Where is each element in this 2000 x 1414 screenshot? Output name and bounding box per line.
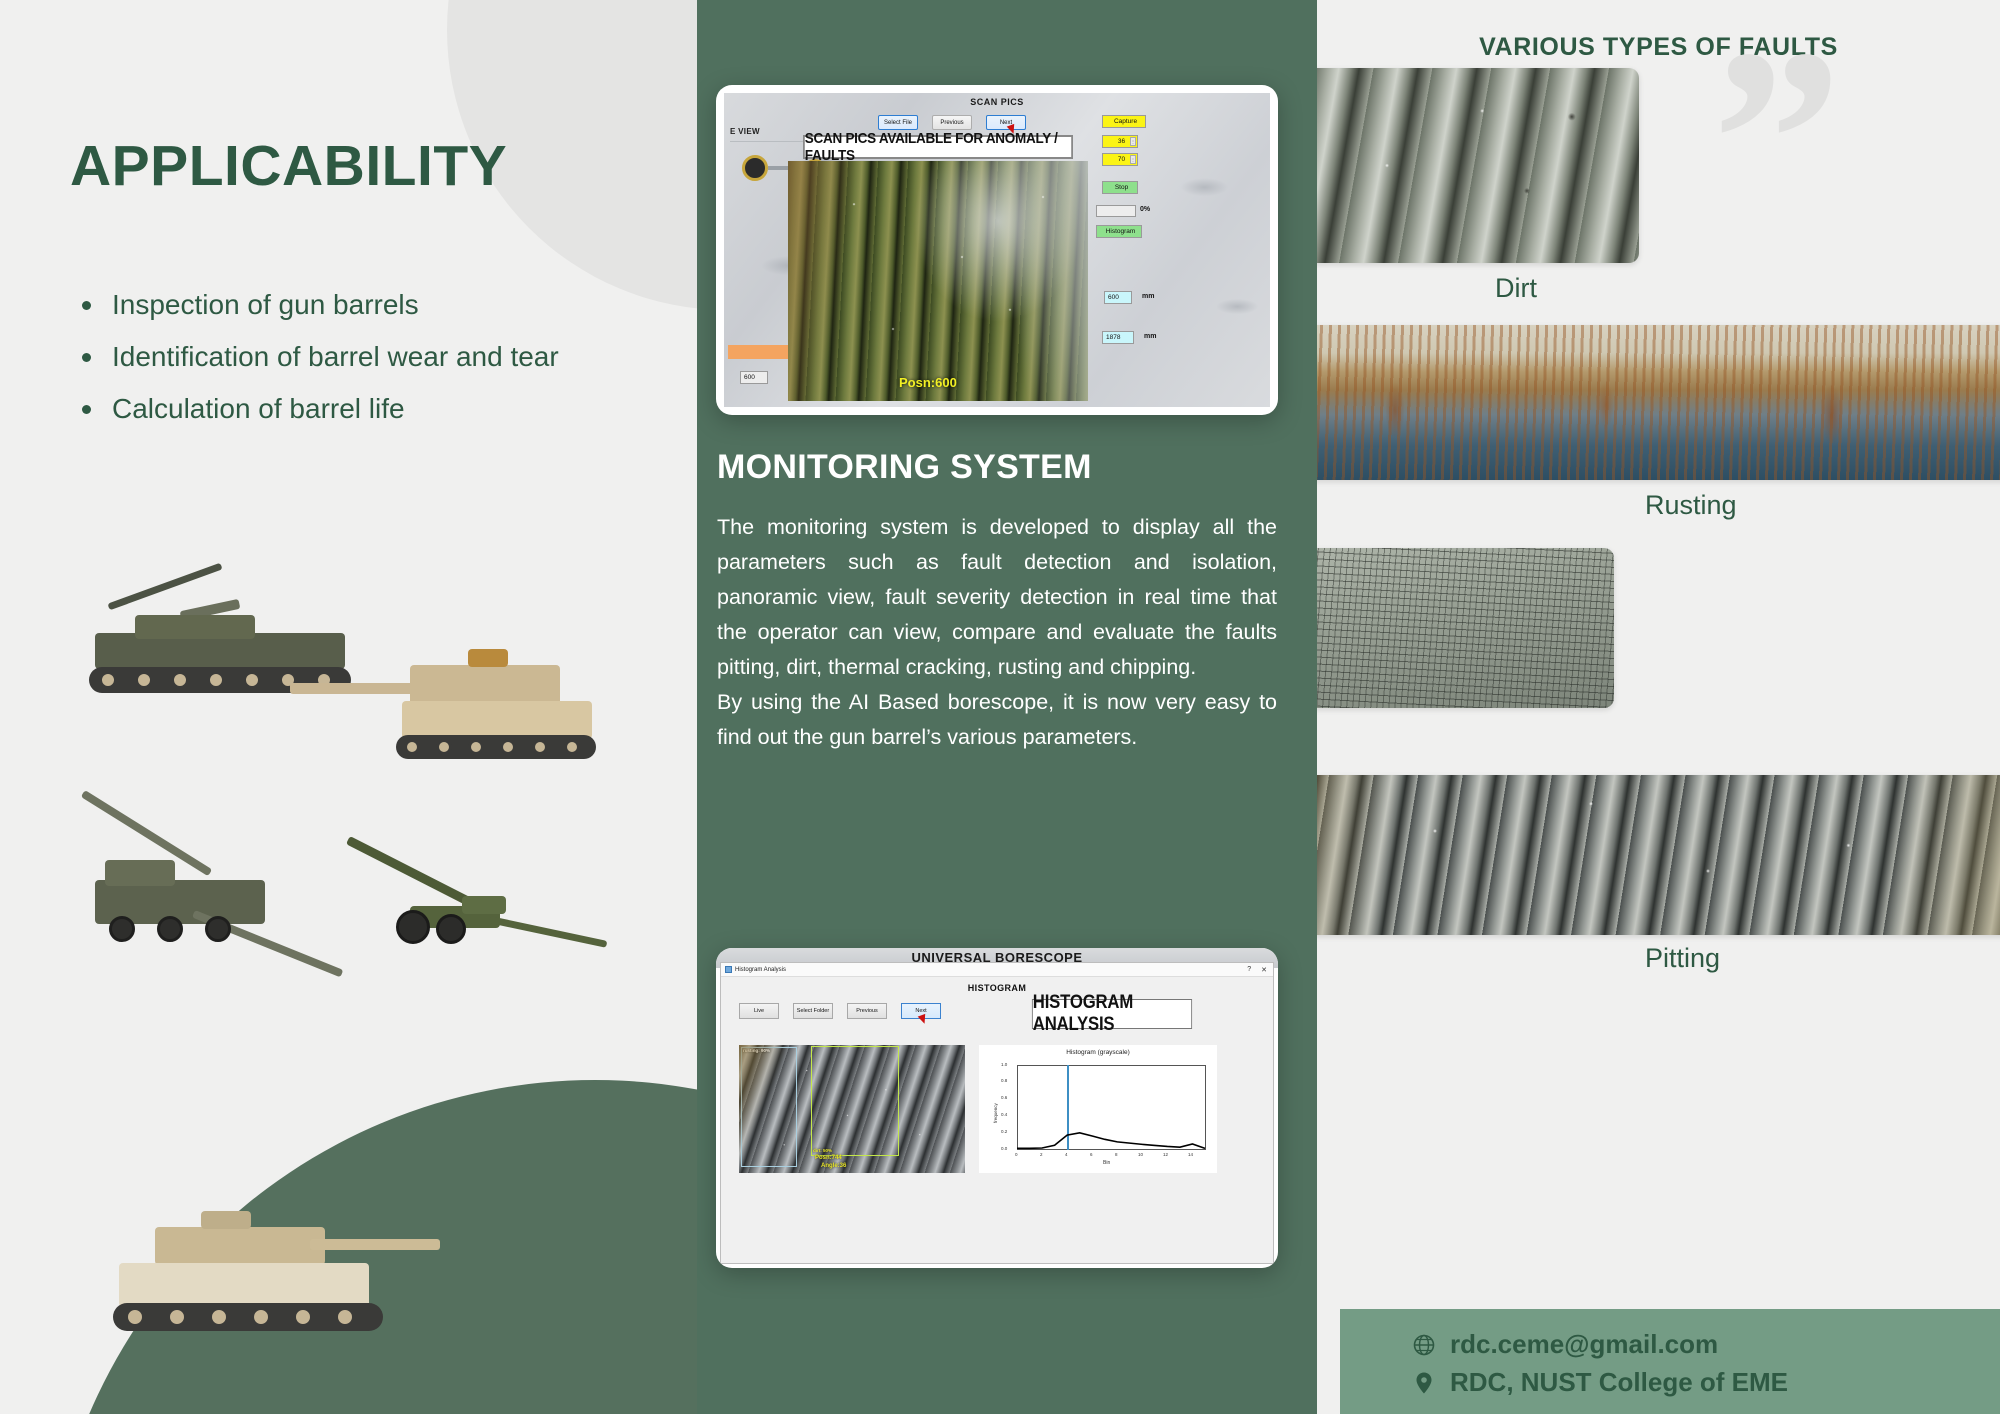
fault-label-dirt: Dirt xyxy=(1495,273,1537,304)
chart-title: Histogram (grayscale) xyxy=(979,1049,1217,1056)
left-position-field[interactable]: 600 xyxy=(740,371,768,384)
chart-xtick-4: 8 xyxy=(1115,1152,1118,1157)
chart-ytick-2: 0.4 xyxy=(1001,1112,1007,1117)
select-folder-button[interactable]: Select Folder xyxy=(793,1003,833,1019)
applicability-list: Inspection of gun barrels Identification… xyxy=(72,280,592,436)
center-panel: SCAN PICS E VIEW 600 An Select File Prev… xyxy=(697,0,1317,1414)
histogram-button[interactable]: Histogram xyxy=(1096,225,1142,238)
list-item: Calculation of barrel life xyxy=(72,384,592,434)
next-button[interactable]: Next xyxy=(986,115,1026,130)
detection-label-angle: Angle:36 xyxy=(821,1163,846,1169)
detection-box-rusting xyxy=(741,1047,797,1167)
progress-percent-label: 0% xyxy=(1140,206,1150,213)
stop-button[interactable]: Stop xyxy=(1102,181,1138,194)
fault-card-pitting xyxy=(1317,775,2000,935)
fault-image-dirt xyxy=(1317,68,1639,263)
app-icon xyxy=(725,966,732,973)
speed-value: 70 xyxy=(1118,156,1125,163)
fault-card-dirt xyxy=(1317,68,1639,263)
probe-wheel-icon xyxy=(742,155,768,181)
fault-card-rusting xyxy=(1317,325,2000,480)
chart-frame-top xyxy=(1017,1065,1205,1066)
fault-image-rusting xyxy=(1317,325,2000,480)
contact-email-text: rdc.ceme@gmail.com xyxy=(1450,1329,1718,1360)
help-icon[interactable]: ? xyxy=(1247,966,1251,974)
vehicle-image-self-propelled-gun-2 xyxy=(290,625,610,775)
quote-mark-icon: ” xyxy=(1712,50,1842,230)
chart-xtick-7: 14 xyxy=(1188,1152,1193,1157)
chart-ylabel: frequency xyxy=(993,1103,998,1123)
chart-ytick-1: 0.2 xyxy=(1001,1129,1007,1134)
detection-label-rusting: rusting: 90% xyxy=(743,1048,770,1053)
histogram-window-title: Histogram Analysis xyxy=(735,967,786,973)
detection-label-dirt: dirt: 50% xyxy=(813,1148,832,1153)
fault-image-thermal-cracking xyxy=(1317,548,1614,708)
list-item: Identification of barrel wear and tear xyxy=(72,332,592,382)
select-file-button[interactable]: Select File xyxy=(878,115,918,130)
chart-xtick-6: 12 xyxy=(1163,1152,1168,1157)
chart-ytick-4: 0.8 xyxy=(1001,1078,1007,1083)
paragraph-1: The monitoring system is developed to di… xyxy=(717,510,1277,685)
right-panel: VARIOUS TYPES OF FAULTS ” Dirt Rusting T… xyxy=(1317,0,2000,1414)
close-icon[interactable]: ✕ xyxy=(1261,966,1267,974)
divider xyxy=(730,141,808,142)
contact-address-text: RDC, NUST College of EME xyxy=(1450,1367,1788,1398)
vehicle-image-main-battle-tank xyxy=(95,1185,435,1345)
chart-ytick-5: 1.0 xyxy=(1001,1062,1007,1067)
speed-input[interactable]: 70 ⋮ xyxy=(1102,153,1138,166)
position-input[interactable]: 600 xyxy=(1104,291,1132,304)
histogram-chart: Histogram (grayscale) 0.0 0.2 0.4 0.6 0.… xyxy=(979,1045,1217,1173)
contact-address-row[interactable]: RDC, NUST College of EME xyxy=(1412,1367,1788,1398)
contact-bar: rdc.ceme@gmail.com RDC, NUST College of … xyxy=(1340,1309,2000,1414)
left-panel: APPLICABILITY Inspection of gun barrels … xyxy=(0,0,697,1414)
chart-axis-y xyxy=(1017,1065,1018,1150)
side-view-label: E VIEW xyxy=(730,127,760,136)
chart-xtick-1: 2 xyxy=(1040,1152,1043,1157)
scan-pics-window-title: SCAN PICS xyxy=(724,97,1270,107)
speed-stepper[interactable]: ⋮ xyxy=(1130,155,1136,164)
chart-frame-right xyxy=(1205,1065,1206,1150)
paragraph-2: By using the AI Based borescope, it is n… xyxy=(717,685,1277,755)
live-button[interactable]: Live xyxy=(739,1003,779,1019)
fault-image-pitting xyxy=(1317,775,2000,935)
position-unit-label: mm xyxy=(1142,293,1154,300)
page-title: APPLICABILITY xyxy=(70,133,507,199)
length-input[interactable]: 1878 xyxy=(1102,331,1134,344)
capture-button[interactable]: Capture xyxy=(1102,115,1146,128)
faults-section-title: VARIOUS TYPES OF FAULTS xyxy=(1317,33,2000,62)
progress-bar xyxy=(1096,205,1136,217)
chart-xtick-5: 10 xyxy=(1138,1152,1143,1157)
monitoring-system-body: The monitoring system is developed to di… xyxy=(717,510,1277,755)
contact-email-row[interactable]: rdc.ceme@gmail.com xyxy=(1412,1329,1718,1360)
angle-input[interactable]: 36 ⋮ xyxy=(1102,135,1138,148)
chart-marker-line xyxy=(1067,1065,1069,1150)
chart-xtick-2: 4 xyxy=(1065,1152,1068,1157)
chart-ytick-3: 0.6 xyxy=(1001,1095,1007,1100)
monitoring-system-heading: MONITORING SYSTEM xyxy=(717,448,1092,487)
barrel-scan-photo xyxy=(788,161,1088,401)
length-unit-label: mm xyxy=(1144,333,1156,340)
hist-previous-button[interactable]: Previous xyxy=(847,1003,887,1019)
chart-xtick-3: 6 xyxy=(1090,1152,1093,1157)
histogram-analysis-window: Histogram Analysis ? ✕ HISTOGRAM Live Se… xyxy=(720,962,1274,1264)
globe-icon xyxy=(1412,1332,1436,1358)
chart-xtick-0: 0 xyxy=(1015,1152,1018,1157)
angle-value: 36 xyxy=(1118,138,1125,145)
fault-label-rusting: Rusting xyxy=(1645,490,1737,521)
histogram-titlebar: Histogram Analysis ? ✕ xyxy=(721,963,1273,977)
previous-button[interactable]: Previous xyxy=(932,115,972,130)
histogram-screenshot: UNIVERSAL BORESCOPE Histogram Analysis ?… xyxy=(716,948,1278,1268)
vehicle-image-truck-howitzer xyxy=(75,790,375,980)
annotated-barrel-photo: rusting: 90% dirt: 50% Posn:744 Angle:36 xyxy=(739,1045,965,1173)
scan-pics-screenshot: SCAN PICS E VIEW 600 An Select File Prev… xyxy=(716,85,1278,415)
list-item: Inspection of gun barrels xyxy=(72,280,592,330)
detection-label-position: Posn:744 xyxy=(815,1155,842,1161)
fault-card-thermal-cracking xyxy=(1317,548,1614,708)
window-controls[interactable]: ? ✕ xyxy=(1247,966,1273,974)
position-overlay-text: Posn:600 xyxy=(899,375,957,390)
angle-stepper[interactable]: ⋮ xyxy=(1130,137,1136,146)
scan-pics-banner: SCAN PICS AVAILABLE FOR ANOMALY / FAULTS xyxy=(803,135,1073,159)
fault-label-pitting: Pitting xyxy=(1645,943,1720,974)
histogram-analysis-banner: HISTOGRAM ANALYSIS xyxy=(1032,999,1192,1029)
scan-pics-window: SCAN PICS E VIEW 600 An Select File Prev… xyxy=(724,93,1270,407)
chart-axis-x xyxy=(1017,1149,1205,1150)
detection-box-dirt xyxy=(811,1046,899,1156)
vehicle-image-towed-field-gun xyxy=(350,830,640,970)
location-pin-icon xyxy=(1412,1370,1436,1396)
chart-ytick-0: 0.0 xyxy=(1001,1146,1007,1151)
chart-xlabel: Bin xyxy=(1103,1160,1110,1166)
